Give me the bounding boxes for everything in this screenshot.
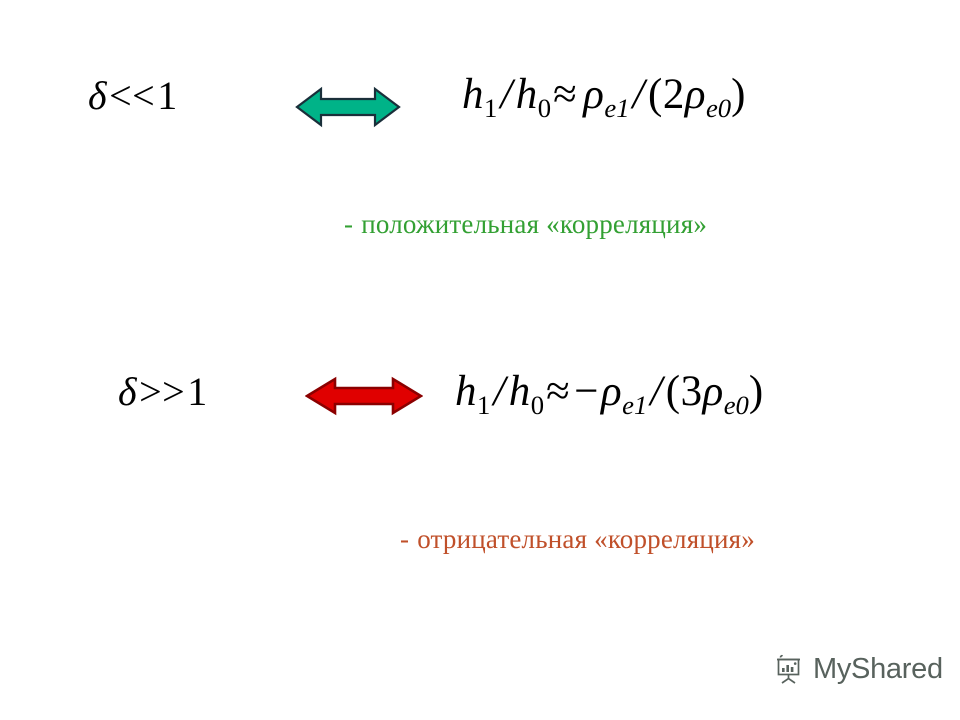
- caption-text-negative: отрицательная «корреляция»: [417, 524, 755, 554]
- slide-canvas: δ<<1 h1/h0≈ρe1/(2ρe0) -положительная «ко…: [0, 0, 960, 720]
- condition-expression-row-2: δ>>1: [118, 372, 208, 412]
- h-var-row-1-den: h: [516, 71, 538, 118]
- arrow-red-svg: [305, 375, 423, 417]
- caption-dash-negative: -: [400, 524, 417, 554]
- caption-dash-positive: -: [344, 209, 361, 239]
- rho-symbol-row-2-den: ρ: [703, 368, 724, 415]
- arrow-red-shape: [307, 379, 421, 413]
- caption-positive-correlation: -положительная «корреляция»: [344, 209, 707, 240]
- approx-operator-row-1: ≈: [551, 71, 579, 118]
- double-headed-arrow-red: [305, 375, 423, 422]
- h-subscript-row-1-num: 1: [484, 93, 497, 123]
- myshared-watermark: MyShared: [772, 652, 943, 686]
- coefficient-row-2: 3: [681, 368, 703, 415]
- rho-subscript-row-1-num: e1: [604, 93, 629, 123]
- presentation-board-chart-icon: [772, 652, 806, 686]
- caption-negative-correlation: -отрицательная «корреляция»: [400, 524, 755, 555]
- condition-value-row-1: 1: [157, 73, 178, 118]
- open-paren-row-2: (: [666, 368, 681, 415]
- caption-text-positive: положительная «корреляция»: [361, 209, 707, 239]
- result-expression-row-2: h1/h0≈−ρe1/(3ρe0): [455, 370, 764, 413]
- h-var-row-2-num: h: [455, 368, 477, 415]
- double-headed-arrow-green: [295, 83, 401, 136]
- myshared-watermark-text: MyShared: [813, 653, 943, 686]
- rho-symbol-row-1-den: ρ: [685, 71, 706, 118]
- relation-operator-row-2: >>: [137, 369, 187, 414]
- rho-subscript-row-1-den: e0: [706, 93, 731, 123]
- slash-row-1-b: /: [630, 71, 648, 118]
- slash-row-2-b: /: [647, 368, 665, 415]
- condition-value-row-2: 1: [187, 369, 208, 414]
- rho-symbol-row-1-num: ρ: [583, 71, 604, 118]
- open-paren-row-1: (: [648, 71, 663, 118]
- coefficient-row-1: 2: [663, 71, 685, 118]
- relation-operator-row-1: <<: [107, 73, 157, 118]
- close-paren-row-2: ): [749, 368, 764, 415]
- rho-subscript-row-2-num: e1: [622, 390, 647, 420]
- delta-symbol-row-1: δ: [88, 73, 107, 118]
- condition-expression-row-1: δ<<1: [88, 76, 178, 116]
- h-subscript-row-1-den: 0: [538, 93, 551, 123]
- result-expression-row-1: h1/h0≈ρe1/(2ρe0): [462, 73, 746, 116]
- arrow-green-svg: [295, 83, 401, 131]
- h-subscript-row-2-num: 1: [477, 390, 490, 420]
- approx-operator-row-2: ≈: [544, 368, 572, 415]
- slash-row-2: /: [490, 368, 508, 415]
- rho-symbol-row-2-num: ρ: [601, 368, 622, 415]
- h-var-row-1-num: h: [462, 71, 484, 118]
- h-var-row-2-den: h: [509, 368, 531, 415]
- close-paren-row-1: ): [731, 71, 746, 118]
- slash-row-1: /: [497, 71, 515, 118]
- rho-subscript-row-2-den: e0: [724, 390, 749, 420]
- arrow-green-shape: [297, 89, 399, 125]
- h-subscript-row-2-den: 0: [531, 390, 544, 420]
- sign-row-2: −: [572, 368, 601, 415]
- delta-symbol-row-2: δ: [118, 369, 137, 414]
